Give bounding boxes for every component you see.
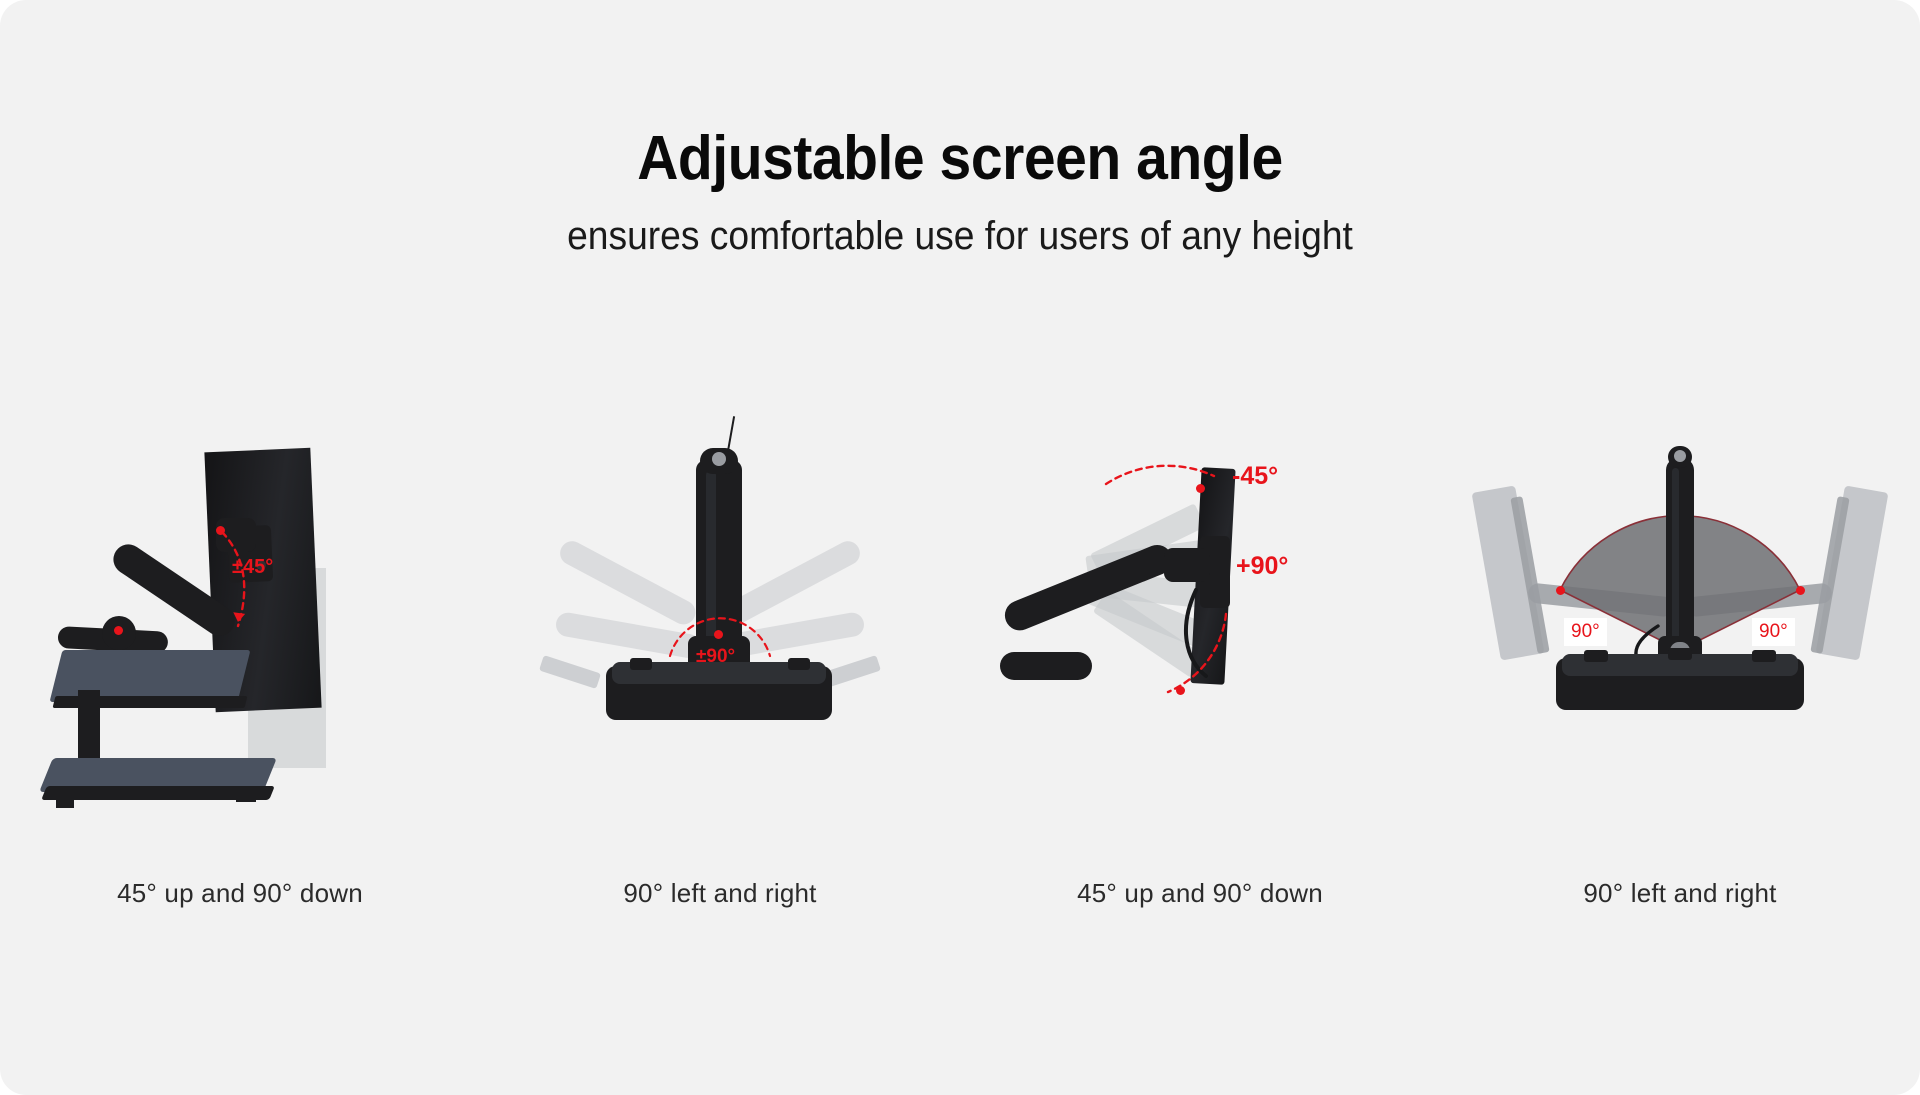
panel-caption-tilt-detail: 45° up and 90° down [1000, 878, 1400, 909]
panel-swivel-top: 90° 90° 90° left and right [1480, 440, 1880, 920]
tilt-range-label: ±45° [232, 556, 273, 579]
pivot-dot-left [1556, 586, 1565, 595]
panel-swivel-front: ±90° 90° left and right [520, 440, 920, 920]
swivel-range-label: ±90° [696, 646, 735, 668]
pivot-dot-right [1796, 586, 1805, 595]
panel-caption-swivel-top: 90° left and right [1480, 878, 1880, 909]
tilt-arc-annotation [40, 440, 440, 870]
panel-tilt-side-detail: -45° +90° 45° up and 90° down [1000, 440, 1400, 920]
product-illustration-swivel-top: 90° 90° [1480, 440, 1880, 870]
panel-caption-tilt-side: 45° up and 90° down [40, 878, 440, 909]
swivel-right-label: 90° [1752, 618, 1795, 646]
base-notch-left [1584, 650, 1608, 662]
swivel-left-label: 90° [1564, 618, 1607, 646]
tilt-up-label: -45° [1232, 462, 1278, 491]
infographic-poster: Adjustable screen angle ensures comforta… [0, 0, 1920, 1095]
tilt-down-label: +90° [1236, 552, 1288, 581]
panel-caption-swivel-front: 90° left and right [520, 878, 920, 909]
header: Adjustable screen angle ensures comforta… [0, 0, 1920, 256]
base-notch-center [1668, 648, 1692, 660]
pivot-dot-up [1196, 484, 1205, 493]
product-illustration-tilt-side: ±45° [40, 440, 440, 870]
base-notch-right [1752, 650, 1776, 662]
page-title: Adjustable screen angle [77, 128, 1843, 190]
panel-strip: ±45° 45° up and 90° down [0, 360, 1920, 920]
page-subtitle: ensures comfortable use for users of any… [67, 216, 1853, 256]
product-illustration-swivel-front: ±90° [520, 440, 920, 870]
panel-tilt-side: ±45° 45° up and 90° down [40, 440, 440, 920]
tilt-arcs-annotation [1000, 440, 1400, 870]
product-illustration-tilt-detail: -45° +90° [1000, 440, 1400, 870]
pivot-dot-down [1176, 686, 1185, 695]
